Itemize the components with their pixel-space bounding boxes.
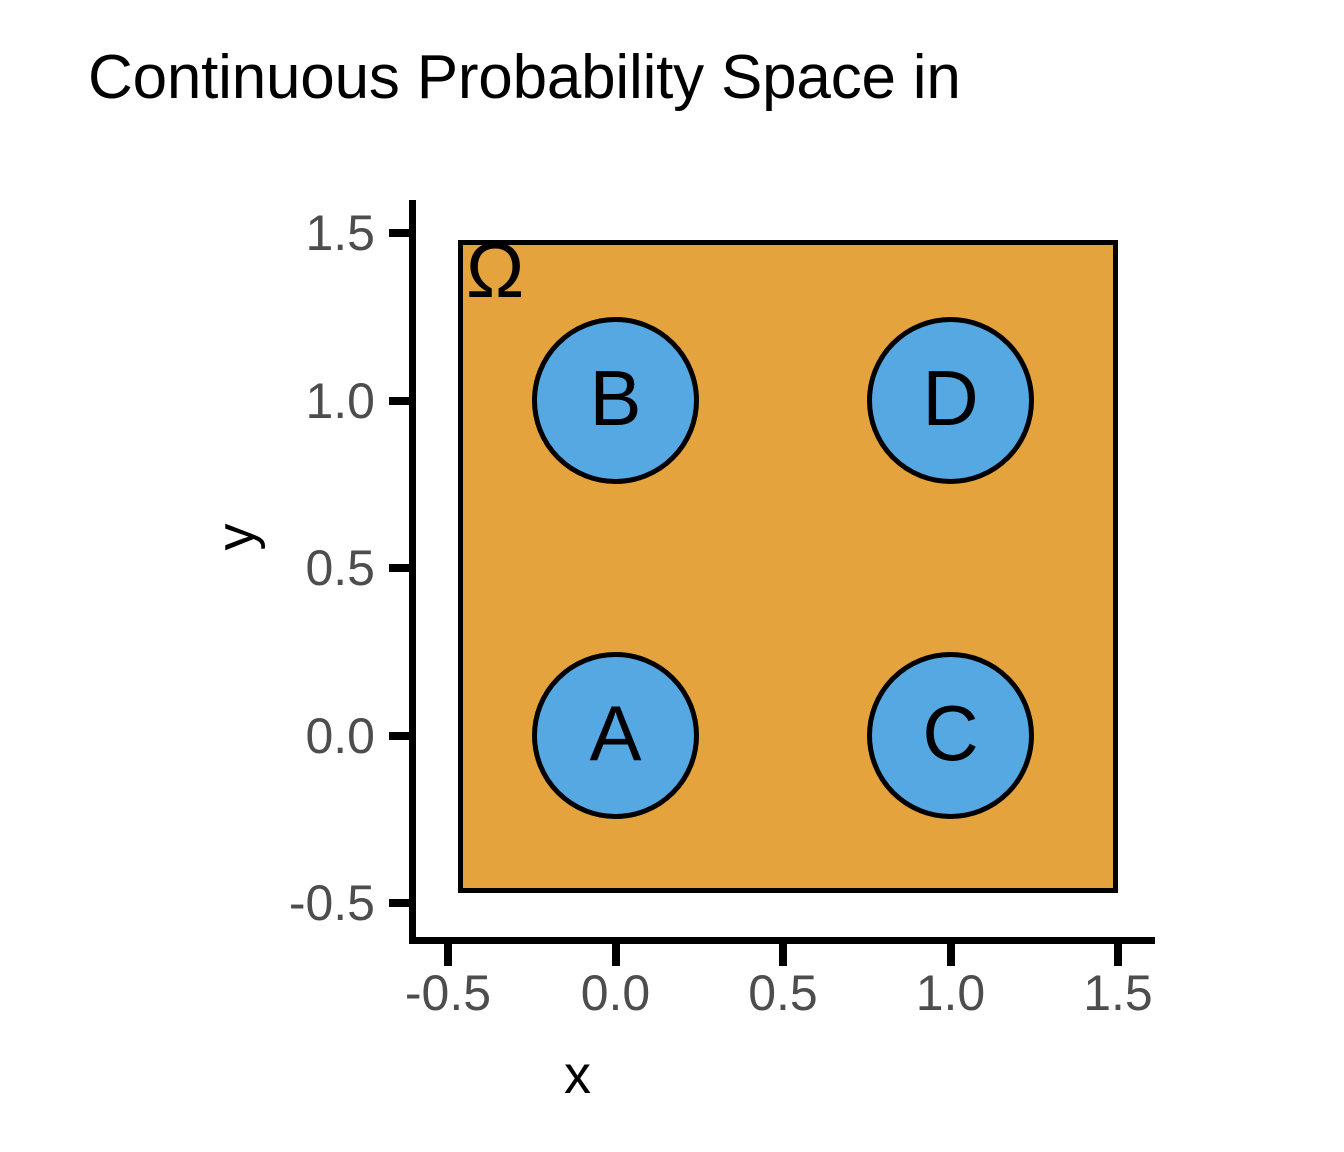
- x-tick-label: 1.5: [1018, 968, 1218, 1018]
- event-circle-label: D: [922, 359, 978, 437]
- y-tick-label: -0.5: [175, 878, 375, 928]
- x-tick-mark: [444, 944, 452, 966]
- y-tick-label: 0.0: [175, 711, 375, 761]
- event-circle: D: [867, 317, 1035, 485]
- event-circle: A: [532, 652, 700, 820]
- y-axis-title: y: [209, 477, 263, 597]
- sample-space-label: Ω: [466, 231, 524, 309]
- x-tick-mark: [779, 944, 787, 966]
- y-tick-label: 1.0: [175, 376, 375, 426]
- x-tick-mark: [1114, 944, 1122, 966]
- chart-canvas: Continuous Probability Space in -0.50.00…: [0, 0, 1344, 1152]
- y-tick-mark: [389, 397, 411, 405]
- event-circle-label: C: [922, 694, 978, 772]
- y-tick-mark: [389, 732, 411, 740]
- page-title: Continuous Probability Space in: [88, 47, 961, 109]
- x-axis-title: x: [0, 1048, 1155, 1102]
- x-tick-mark: [612, 944, 620, 966]
- y-tick-label: 0.5: [175, 543, 375, 593]
- y-tick-label: 1.5: [175, 208, 375, 258]
- y-axis-line: [409, 200, 416, 944]
- event-circle-label: A: [589, 694, 641, 772]
- x-axis-line: [409, 937, 1155, 944]
- y-tick-mark: [389, 564, 411, 572]
- event-circle: B: [532, 317, 700, 485]
- event-circle-label: B: [589, 359, 641, 437]
- event-circle: C: [867, 652, 1035, 820]
- y-tick-mark: [389, 899, 411, 907]
- x-tick-mark: [947, 944, 955, 966]
- y-tick-mark: [389, 229, 411, 237]
